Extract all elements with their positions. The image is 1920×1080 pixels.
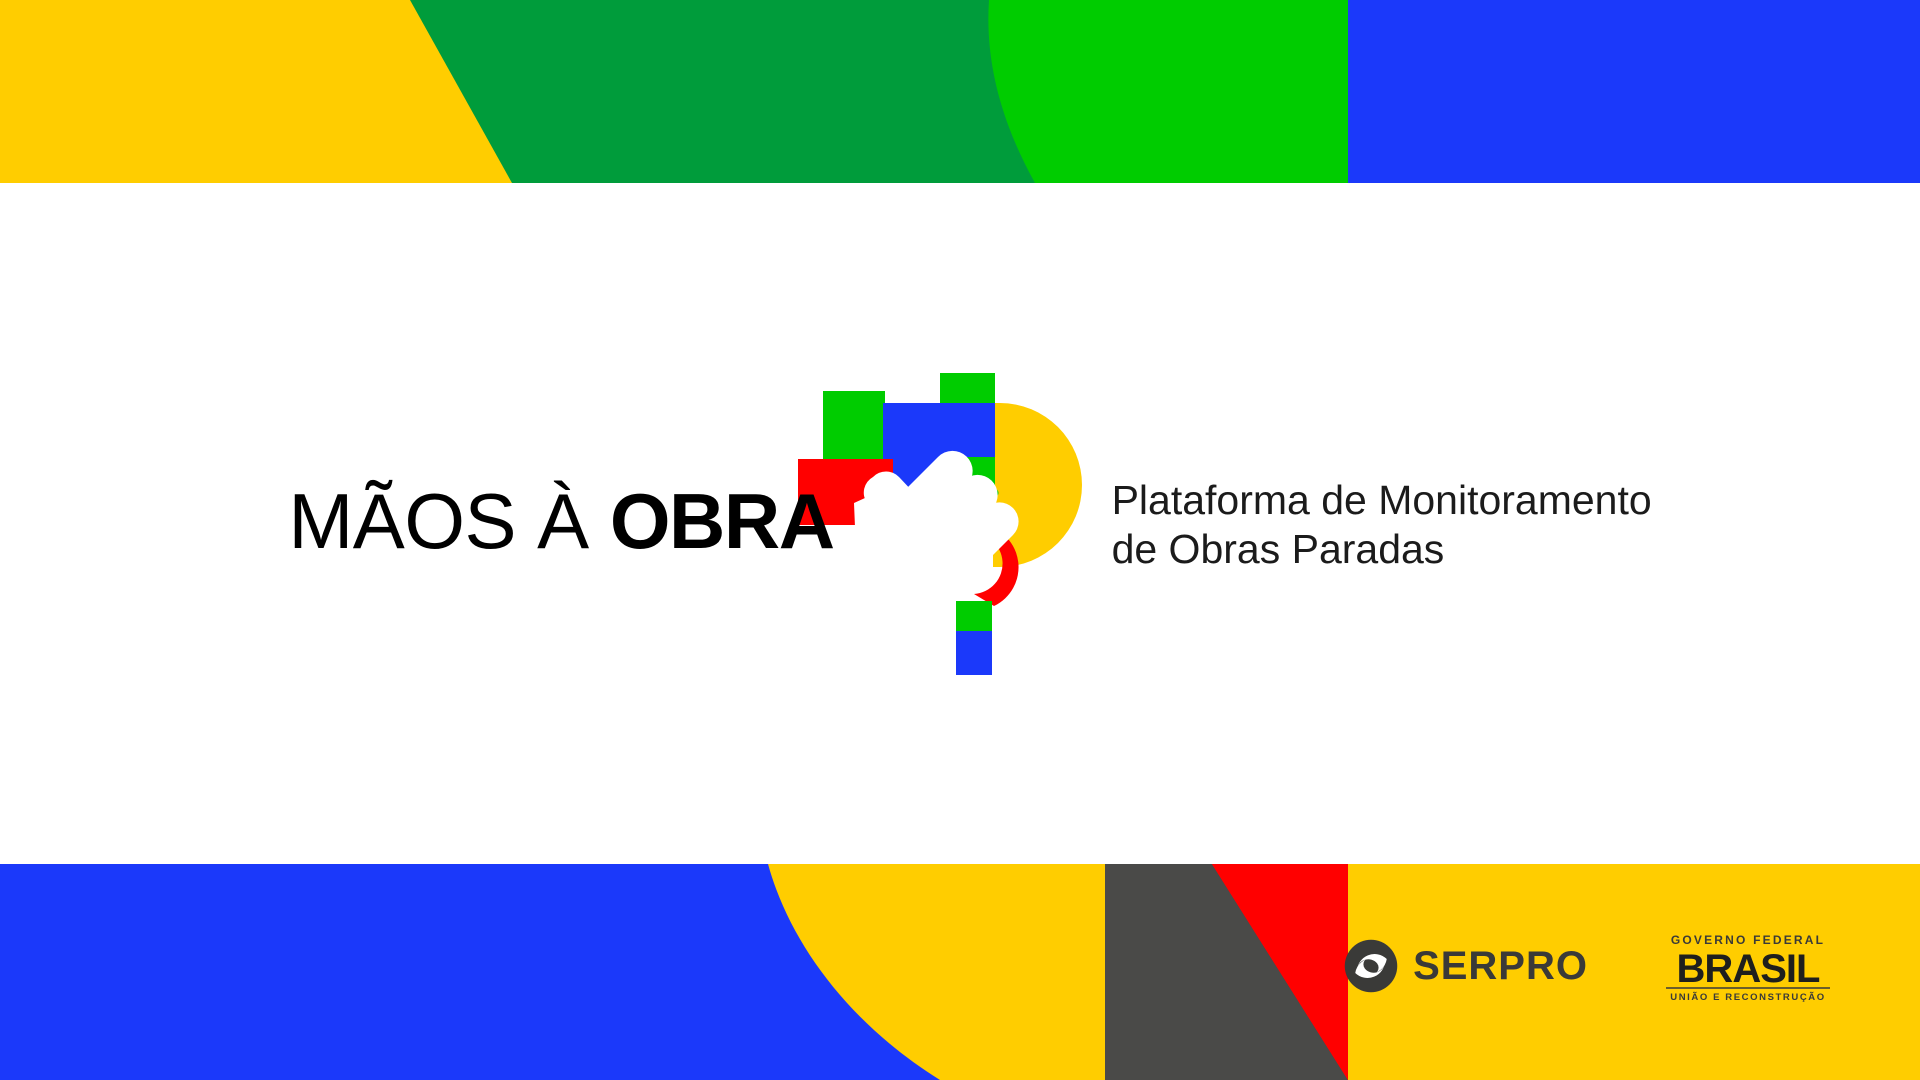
logo-lockup: MÃOS À OBRA	[288, 359, 1651, 683]
wordmark-bold-part: OBRA	[610, 477, 834, 565]
banner-top-graphic	[0, 0, 1920, 183]
symbol-green-tail	[956, 601, 992, 633]
banner-top	[0, 0, 1920, 183]
gov-line-top: GOVERNO FEDERAL	[1671, 933, 1825, 947]
wordmark-light-part: MÃOS À	[288, 477, 588, 565]
serpro-wordmark: SERPRO	[1413, 946, 1588, 986]
serpro-swirl-icon	[1343, 938, 1399, 994]
symbol-green-square-left	[823, 391, 885, 459]
gov-line-main: BRASIL	[1677, 947, 1820, 991]
footer-logos: SERPRO GOVERNO FEDERAL BRASIL UNIÃO E RE…	[1343, 930, 1848, 1002]
gov-line-bottom: UNIÃO E RECONSTRUÇÃO	[1670, 992, 1826, 1002]
governo-federal-brasil-logo[interactable]: GOVERNO FEDERAL BRASIL UNIÃO E RECONSTRU…	[1648, 930, 1848, 1002]
hero-logo-area: MÃOS À OBRA	[0, 183, 1920, 864]
brand-mark-group: MÃOS À OBRA	[288, 359, 1087, 683]
banner-top-blue	[1348, 0, 1920, 183]
symbol-green-square-top	[940, 373, 995, 405]
brand-wordmark: MÃOS À OBRA	[288, 482, 833, 560]
platform-tagline: Plataforma de Monitoramento de Obras Par…	[1112, 476, 1652, 573]
serpro-logo[interactable]: SERPRO	[1343, 938, 1588, 994]
splash-screen: MÃOS À OBRA	[0, 0, 1920, 1080]
symbol-blue-tail	[956, 631, 992, 675]
